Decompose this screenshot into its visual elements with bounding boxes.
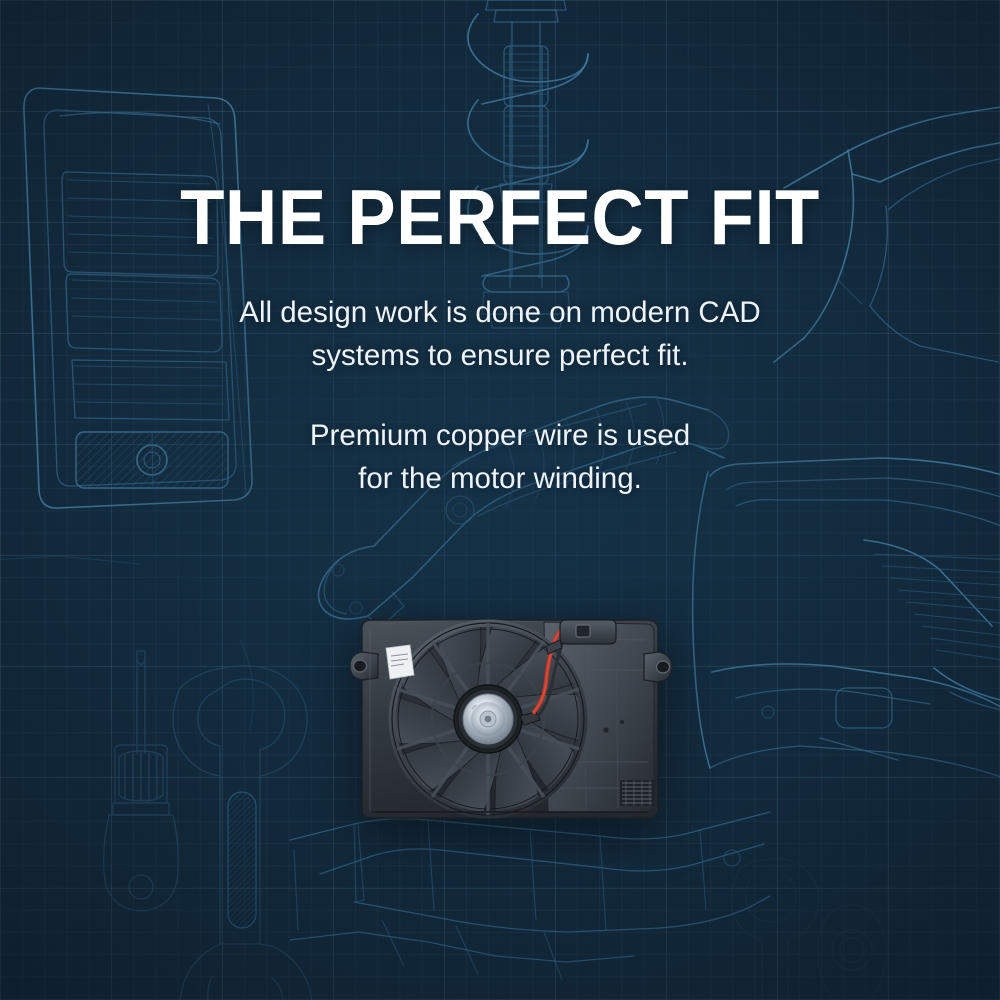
paragraph-one: All design work is done on modern CAD sy…: [0, 291, 1000, 378]
blueprint-front-bumper-grille: [693, 458, 1000, 794]
page-title: THE PERFECT FIT: [35, 178, 965, 256]
paragraph-two: Premium copper wire is used for the moto…: [0, 414, 1000, 501]
marketing-banner: THE PERFECT FIT All design work is done …: [0, 0, 1000, 1000]
copy-block: THE PERFECT FIT All design work is done …: [0, 178, 1000, 500]
blueprint-engine-subframe: [290, 812, 770, 980]
product-photo-cooling-fan: [348, 612, 678, 834]
paragraph-two-line-one: Premium copper wire is used: [310, 419, 690, 452]
paragraph-one-line-two: systems to ensure perfect fit.: [311, 339, 688, 372]
blueprint-wrench-pair: [731, 859, 886, 1000]
paragraph-one-line-one: All design work is done on modern CAD: [239, 296, 760, 329]
paragraph-two-line-two: for the motor winding.: [358, 462, 642, 495]
blueprint-screwdriver: [104, 651, 179, 911]
blueprint-open-end-wrench: [173, 666, 312, 1000]
blueprint-left-lower-lines: [0, 556, 253, 730]
